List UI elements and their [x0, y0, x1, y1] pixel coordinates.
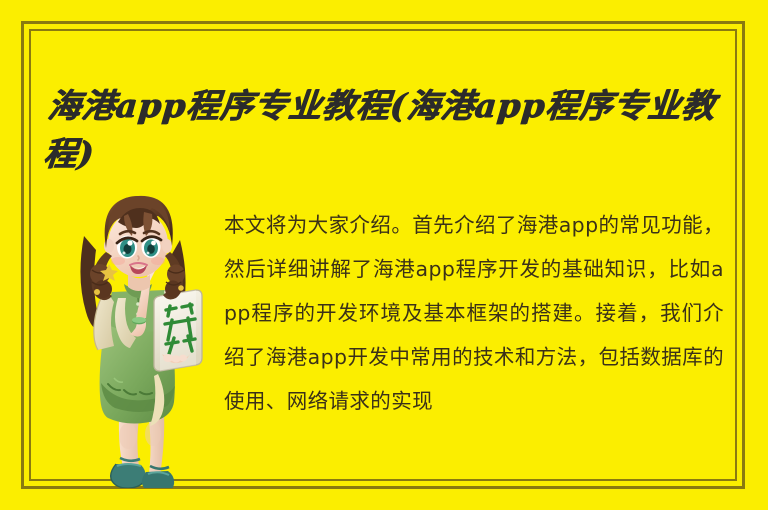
- page-title: 海港app程序专业教程(海港app程序专业教程): [42, 82, 722, 178]
- article-card: 海港app程序专业教程(海港app程序专业教程): [0, 0, 768, 510]
- article-body: 本文将为大家介绍。首先介绍了海港app的常见功能，然后详细讲解了海港app程序开…: [224, 203, 724, 423]
- mahjong-girl-illustration: [62, 178, 214, 488]
